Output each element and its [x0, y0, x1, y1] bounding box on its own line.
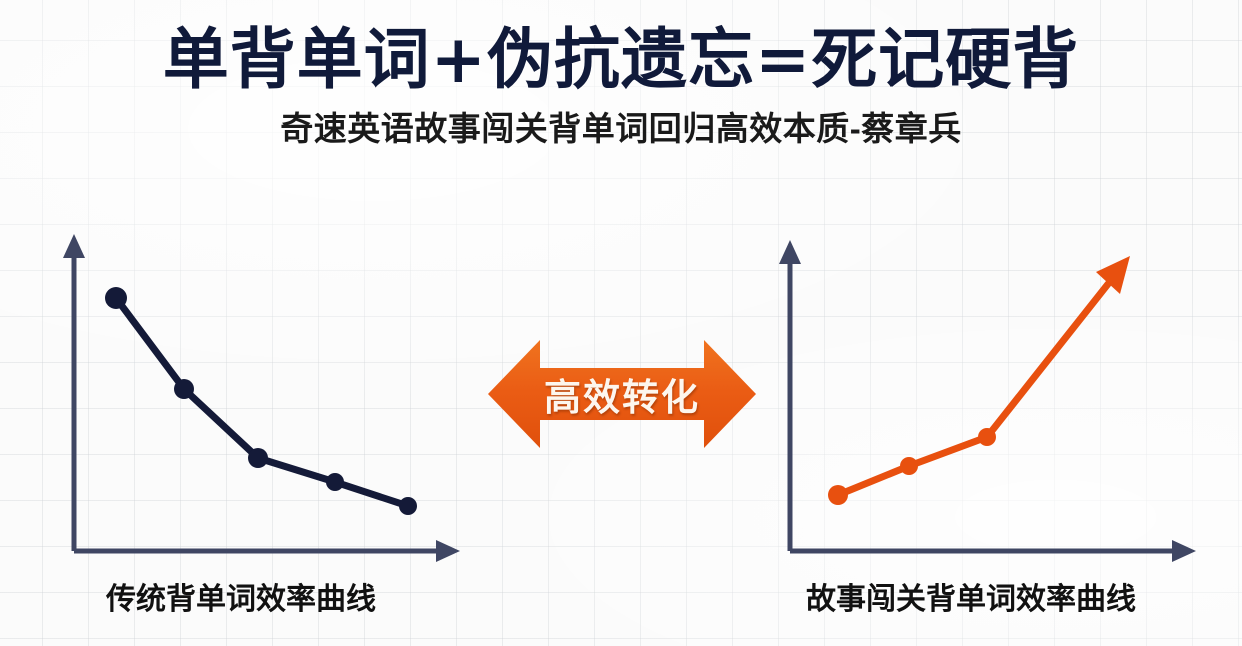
title-block: 单背单词+伪抗遗忘=死记硬背 奇速英语故事闯关背单词回归高效本质-蔡章兵 — [0, 0, 1242, 149]
data-series-line — [838, 256, 1130, 495]
conversion-arrow: 高效转化 — [488, 332, 756, 456]
chart-traditional — [40, 228, 480, 568]
caption-story-quest-curve: 故事闯关背单词效率曲线 — [806, 580, 1136, 620]
data-point — [326, 473, 344, 491]
data-point — [248, 448, 268, 468]
x-axis — [790, 540, 1196, 562]
y-axis — [779, 240, 801, 551]
caption-traditional-curve: 传统背单词效率曲线 — [106, 580, 376, 620]
data-point — [105, 287, 127, 309]
chart-story-quest — [760, 228, 1210, 568]
data-point — [399, 497, 417, 515]
story-quest-efficiency-line-chart — [760, 228, 1210, 568]
page-title: 单背单词+伪抗遗忘=死记硬背 — [0, 0, 1242, 97]
data-point — [174, 379, 194, 399]
data-point — [828, 485, 848, 505]
page-subtitle: 奇速英语故事闯关背单词回归高效本质-蔡章兵 — [0, 97, 1242, 149]
data-series-line — [116, 298, 408, 506]
traditional-efficiency-line-chart — [40, 228, 480, 568]
slide-canvas: 单背单词+伪抗遗忘=死记硬背 奇速英语故事闯关背单词回归高效本质-蔡章兵 — [0, 0, 1242, 646]
y-axis — [63, 234, 85, 551]
x-axis — [74, 540, 460, 562]
data-point — [900, 457, 918, 475]
data-point — [978, 428, 996, 446]
double-headed-arrow-icon — [488, 332, 756, 456]
data-point-markers — [105, 287, 417, 515]
